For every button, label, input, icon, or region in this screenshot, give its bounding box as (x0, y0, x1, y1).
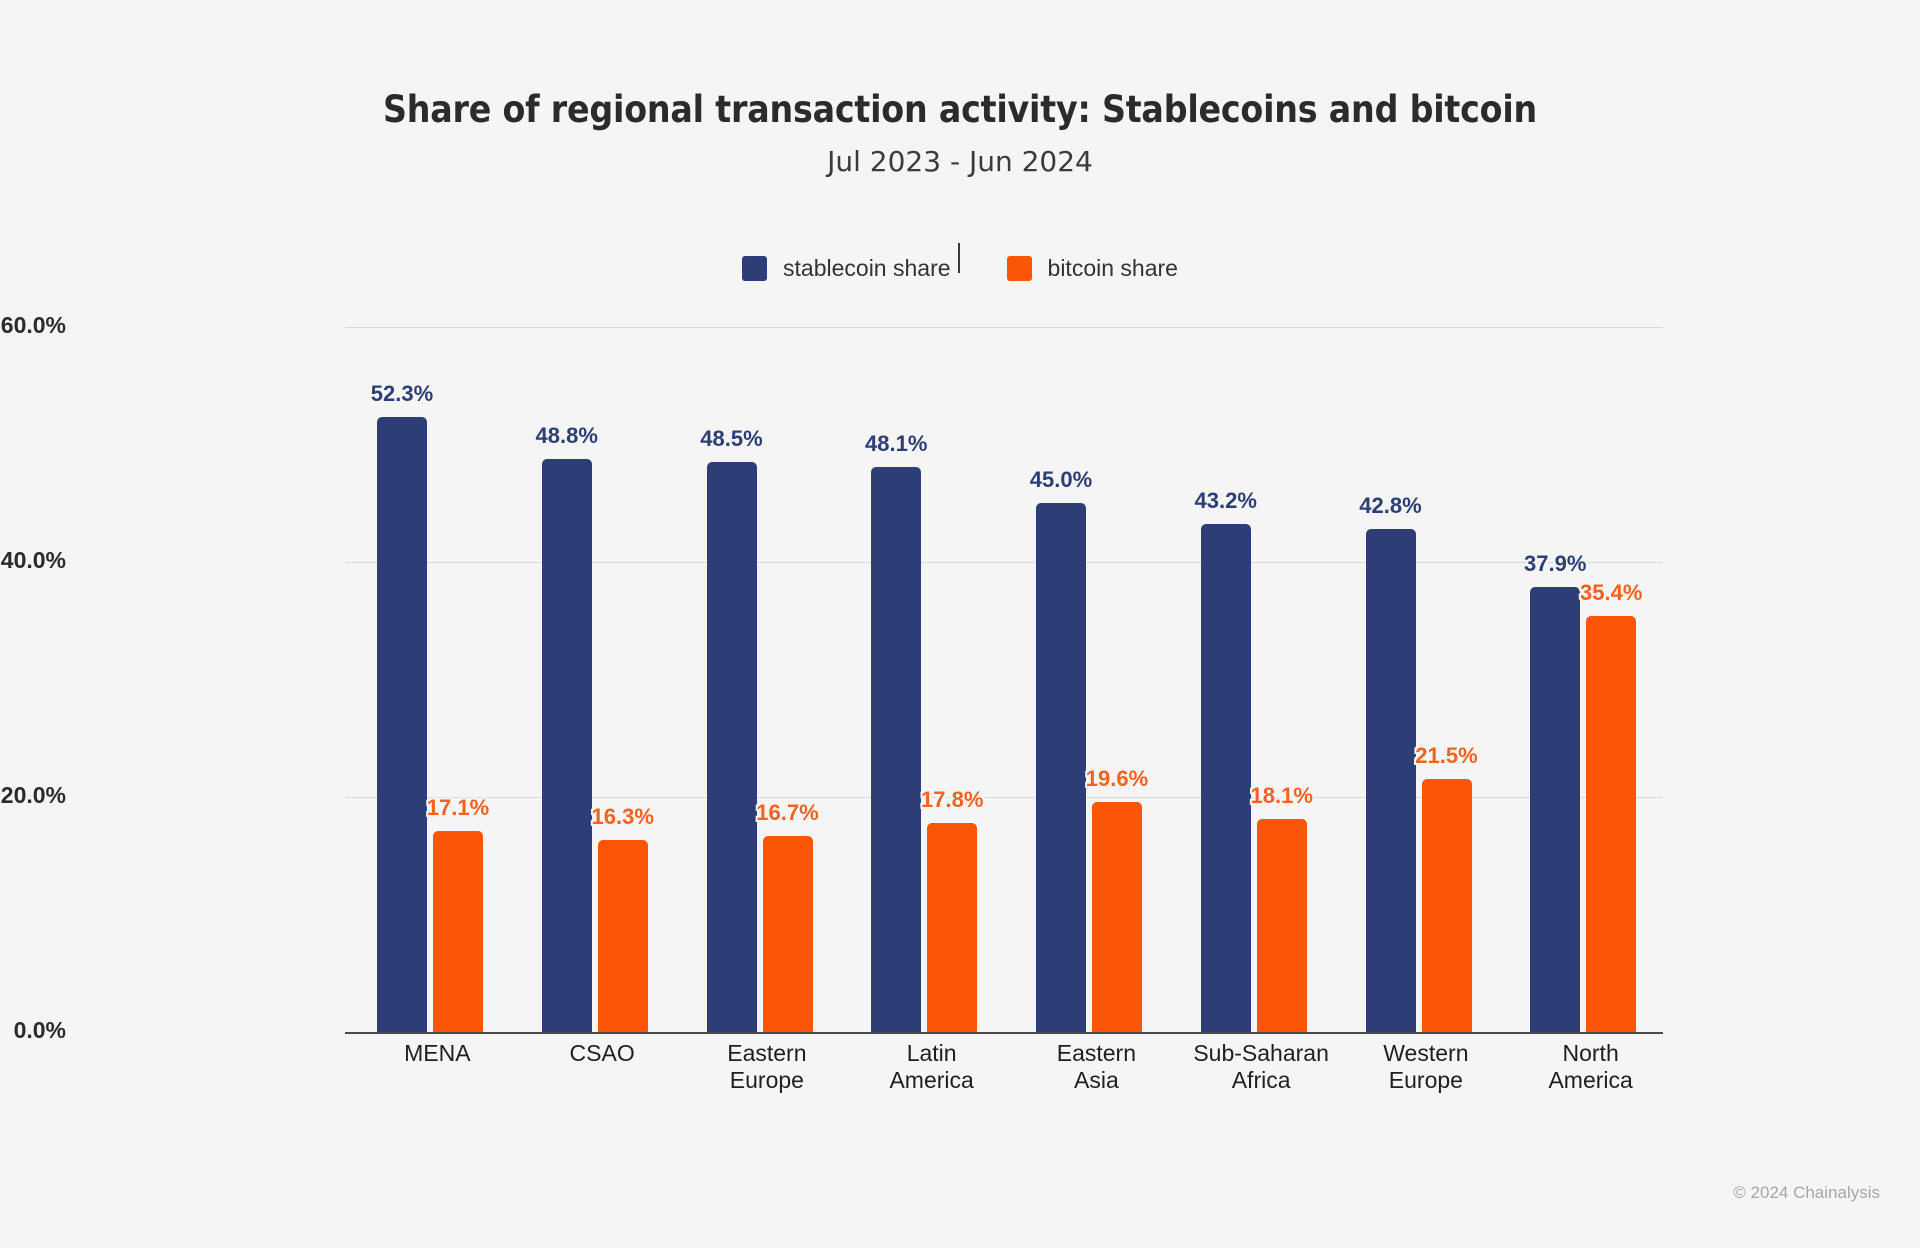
bar-stablecoin[interactable] (871, 467, 921, 1032)
x-axis-line (345, 1032, 1663, 1034)
bar-group: 43.2%18.1% (1169, 327, 1334, 1032)
bar-stablecoin[interactable] (1201, 524, 1251, 1032)
x-axis-category-label: CSAO (510, 1040, 675, 1094)
x-axis-category-label: EasternEurope (675, 1040, 840, 1094)
bar-bitcoin[interactable] (1257, 819, 1307, 1032)
bar-bitcoin[interactable] (598, 840, 648, 1032)
bar-bitcoin[interactable] (1586, 616, 1636, 1032)
bar-value-label-stablecoin: 37.9% (1480, 551, 1630, 577)
bar-value-label-stablecoin: 48.8% (492, 423, 642, 449)
bar-stablecoin[interactable] (377, 417, 427, 1032)
bar-group: 42.8%21.5% (1334, 327, 1499, 1032)
bar-group: 45.0%19.6% (1004, 327, 1169, 1032)
bar-bitcoin[interactable] (1092, 802, 1142, 1032)
y-axis-tick-label: 0.0% (0, 1017, 66, 1044)
bar-value-label-stablecoin: 43.2% (1151, 488, 1301, 514)
bar-group: 48.5%16.7% (675, 327, 840, 1032)
bar-value-label-stablecoin: 42.8% (1316, 493, 1466, 519)
x-axis-category-label: EasternAsia (1004, 1040, 1169, 1094)
x-axis-labels: MENACSAOEasternEuropeLatinAmericaEastern… (345, 1040, 1663, 1094)
y-axis-tick-label: 20.0% (0, 782, 66, 809)
bar-stablecoin[interactable] (707, 462, 757, 1032)
x-axis-category-label: NorthAmerica (1498, 1040, 1663, 1094)
bar-stablecoin[interactable] (1366, 529, 1416, 1032)
bar-bitcoin[interactable] (1422, 779, 1472, 1032)
x-axis-category-label: WesternEurope (1334, 1040, 1499, 1094)
bar-bitcoin[interactable] (433, 831, 483, 1032)
bar-groups: 52.3%17.1%48.8%16.3%48.5%16.7%48.1%17.8%… (345, 327, 1663, 1032)
bar-group: 48.1%17.8% (839, 327, 1004, 1032)
bar-value-label-stablecoin: 52.3% (327, 381, 477, 407)
x-axis-category-label: MENA (345, 1040, 510, 1094)
bar-bitcoin[interactable] (763, 836, 813, 1032)
bar-stablecoin[interactable] (542, 459, 592, 1032)
bar-value-label-stablecoin: 45.0% (986, 467, 1136, 493)
bar-value-label-stablecoin: 48.5% (657, 426, 807, 452)
bar-group: 37.9%35.4% (1498, 327, 1663, 1032)
chart-plot-area: 0.0%20.0%40.0%60.0% 52.3%17.1%48.8%16.3%… (0, 0, 1920, 1248)
bar-group: 52.3%17.1% (345, 327, 510, 1032)
y-axis-tick-label: 40.0% (0, 547, 66, 574)
y-axis-tick-label: 60.0% (0, 312, 66, 339)
bar-group: 48.8%16.3% (510, 327, 675, 1032)
bar-value-label-bitcoin: 35.4% (1536, 580, 1686, 606)
bar-value-label-stablecoin: 48.1% (821, 431, 971, 457)
x-axis-category-label: Sub-SaharanAfrica (1169, 1040, 1334, 1094)
x-axis-category-label: LatinAmerica (839, 1040, 1004, 1094)
bar-bitcoin[interactable] (927, 823, 977, 1032)
copyright-notice: © 2024 Chainalysis (1733, 1183, 1880, 1203)
bar-stablecoin[interactable] (1530, 587, 1580, 1032)
